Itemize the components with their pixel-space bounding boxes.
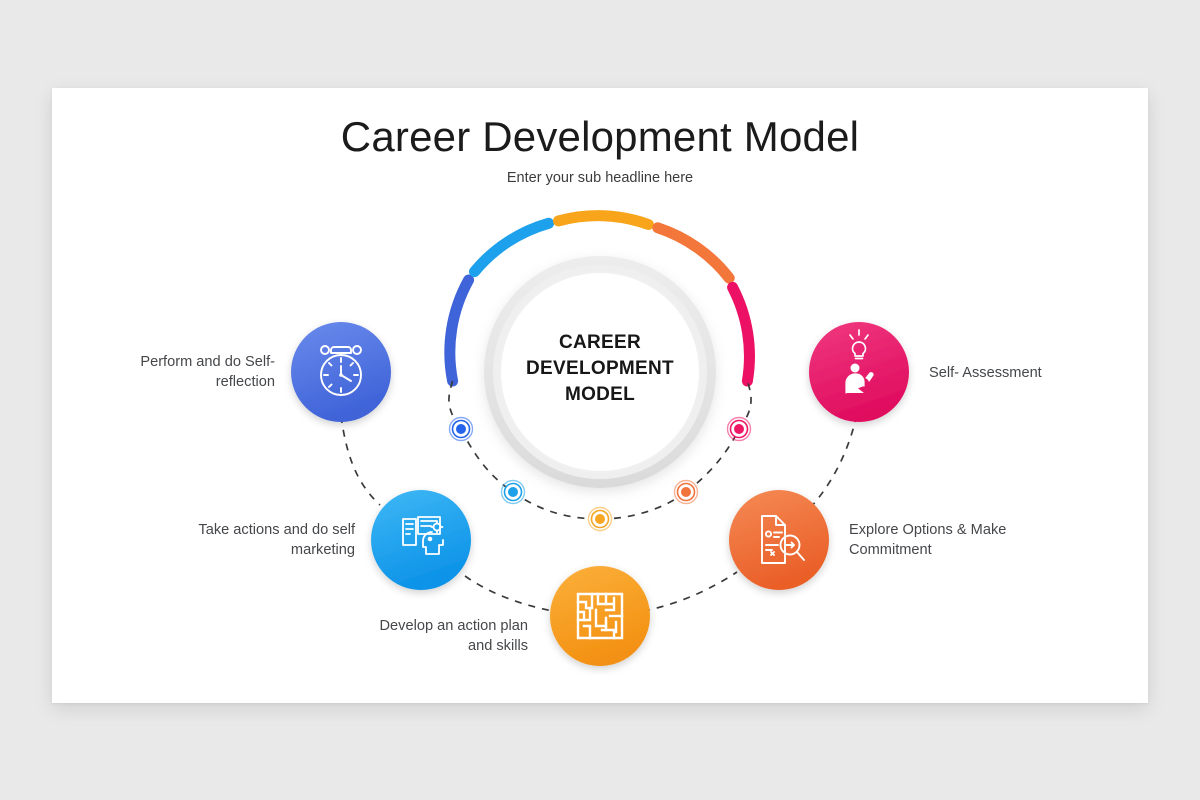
ring-segment-lightblue [475, 223, 549, 271]
ring-segment-orange [658, 228, 729, 278]
center-caption: CAREER DEVELOPMENT MODEL [500, 330, 700, 408]
center-caption-line1: CAREER [500, 330, 700, 356]
center-caption-line3: MODEL [500, 382, 700, 408]
label-take-actions: Take actions and do self marketing [145, 520, 355, 560]
label-explore-options: Explore Options & Make Commitment [849, 520, 1064, 560]
label-line: Commitment [849, 540, 1064, 560]
node-take-actions[interactable] [371, 490, 471, 590]
label-line: Explore Options & Make [849, 520, 1064, 540]
label-self-assessment: Self- Assessment [929, 363, 1129, 383]
connector-dot-pink [728, 418, 751, 441]
ring-segment-blue [450, 280, 469, 381]
slide-stage: Career Development Model Enter your sub … [0, 0, 1200, 800]
ring-segment-amber [559, 216, 649, 225]
connector-dot-amber [589, 508, 612, 531]
label-line: Self- Assessment [929, 363, 1129, 383]
label-line: marketing [145, 540, 355, 560]
connector-dot-blue [450, 418, 473, 441]
label-line: Take actions and do self [145, 520, 355, 540]
node-perform-self-reflection[interactable] [291, 322, 391, 422]
label-perform-self-reflection: Perform and do Self- reflection [90, 352, 275, 392]
ring-segment-pink [733, 287, 750, 381]
connector-dot-orange [675, 481, 698, 504]
connector-dot-lightblue [502, 481, 525, 504]
center-caption-line2: DEVELOPMENT [500, 356, 700, 382]
label-line: and skills [330, 636, 528, 656]
node-explore-options[interactable] [729, 490, 829, 590]
node-develop-action-plan[interactable] [550, 566, 650, 666]
label-line: Perform and do Self- [90, 352, 275, 372]
label-develop-action-plan: Develop an action plan and skills [330, 616, 528, 656]
node-self-assessment[interactable] [809, 322, 909, 422]
label-line: reflection [90, 372, 275, 392]
label-line: Develop an action plan [330, 616, 528, 636]
